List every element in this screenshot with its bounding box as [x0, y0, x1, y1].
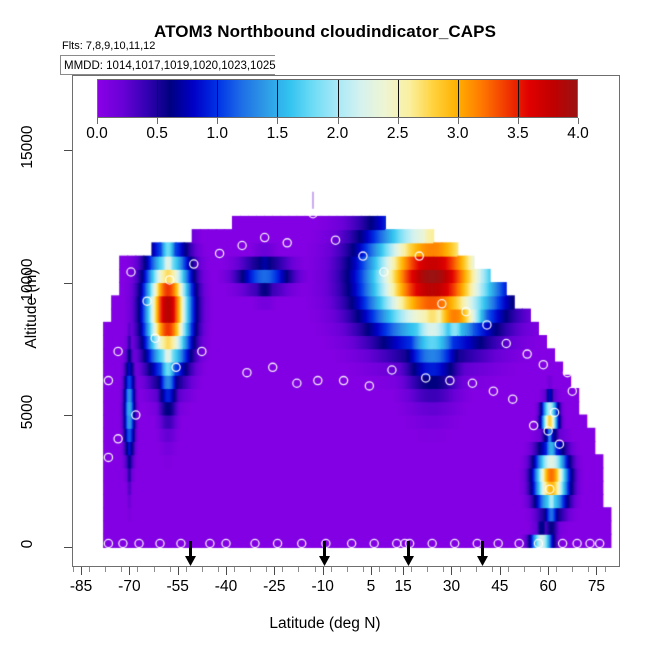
x-axis-tick: [178, 567, 179, 575]
x-axis-tick: [596, 567, 597, 575]
x-axis-tick-label: 75: [588, 578, 605, 596]
x-axis-minor-tick: [524, 567, 525, 572]
x-axis-minor-tick: [73, 567, 74, 572]
y-axis-label: Altitude (m): [23, 249, 41, 369]
x-axis-minor-tick: [137, 567, 138, 572]
down-arrow-icon: [318, 541, 331, 567]
y-axis-tick-label: 15000: [19, 107, 37, 187]
y-axis-tick-label: 5000: [19, 372, 37, 452]
x-axis-tick-label: -10: [311, 578, 333, 596]
x-axis-minor-tick: [202, 567, 203, 572]
x-axis-tick: [226, 567, 227, 575]
x-axis-tick: [403, 567, 404, 575]
x-axis-tick: [500, 567, 501, 575]
y-axis-tick: [64, 547, 72, 548]
x-axis-minor-tick: [282, 567, 283, 572]
x-axis-minor-tick: [89, 567, 90, 572]
y-axis-tick: [64, 150, 72, 151]
x-axis-minor-tick: [266, 567, 267, 572]
down-arrow-icon: [402, 541, 415, 567]
x-axis-minor-tick: [605, 567, 606, 572]
x-axis-tick: [548, 567, 549, 575]
x-axis-minor-tick: [347, 567, 348, 572]
x-axis-minor-tick: [460, 567, 461, 572]
x-axis-minor-tick: [443, 567, 444, 572]
x-axis-tick: [81, 567, 82, 575]
y-axis-tick: [64, 415, 72, 416]
x-axis-minor-tick: [427, 567, 428, 572]
x-axis-minor-tick: [411, 567, 412, 572]
x-axis-minor-tick: [186, 567, 187, 572]
flights-label: Flts: 7,8,9,10,11,12: [62, 40, 155, 52]
x-axis-tick-label: 30: [443, 578, 460, 596]
x-axis-tick-label: 60: [540, 578, 557, 596]
x-axis-minor-tick: [540, 567, 541, 572]
x-axis-minor-tick: [588, 567, 589, 572]
x-axis-minor-tick: [556, 567, 557, 572]
x-axis-tick-label: -55: [166, 578, 188, 596]
x-axis-minor-tick: [105, 567, 106, 572]
x-axis-minor-tick: [315, 567, 316, 572]
x-axis-minor-tick: [395, 567, 396, 572]
mmdd-label: MMDD: 1014,1017,1019,1020,1023,1025: [64, 60, 276, 72]
x-axis-minor-tick: [298, 567, 299, 572]
x-axis-minor-tick: [572, 567, 573, 572]
x-axis-tick-label: -70: [118, 578, 140, 596]
x-axis-minor-tick: [234, 567, 235, 572]
x-axis-tick-label: -40: [215, 578, 237, 596]
page-title: ATOM3 Northbound cloudindicator_CAPS: [0, 22, 650, 42]
x-axis-tick-label: -25: [263, 578, 285, 596]
x-axis-tick-label: 15: [395, 578, 412, 596]
x-axis-tick-label: -85: [70, 578, 92, 596]
x-axis-minor-tick: [508, 567, 509, 572]
x-axis-minor-tick: [218, 567, 219, 572]
x-axis-minor-tick: [363, 567, 364, 572]
axes-frame: [72, 75, 620, 567]
x-axis-tick: [129, 567, 130, 575]
down-arrow-icon: [476, 541, 489, 567]
x-axis-tick: [323, 567, 324, 575]
x-axis-minor-tick: [379, 567, 380, 572]
x-axis-tick: [274, 567, 275, 575]
y-axis-tick-label: 0: [19, 504, 37, 584]
x-axis-minor-tick: [121, 567, 122, 572]
x-axis-minor-tick: [154, 567, 155, 572]
x-axis-tick-label: 5: [367, 578, 376, 596]
x-axis-minor-tick: [476, 567, 477, 572]
x-axis-minor-tick: [331, 567, 332, 572]
figure-root: ATOM3 Northbound cloudindicator_CAPS Flt…: [0, 0, 650, 650]
x-axis-minor-tick: [170, 567, 171, 572]
x-axis-tick-label: 45: [491, 578, 508, 596]
y-axis-tick: [64, 283, 72, 284]
x-axis-tick: [371, 567, 372, 575]
x-axis-minor-tick: [250, 567, 251, 572]
down-arrow-icon: [184, 541, 197, 567]
x-axis-minor-tick: [492, 567, 493, 572]
x-axis-tick: [451, 567, 452, 575]
x-axis-label: Latitude (deg N): [0, 615, 650, 633]
